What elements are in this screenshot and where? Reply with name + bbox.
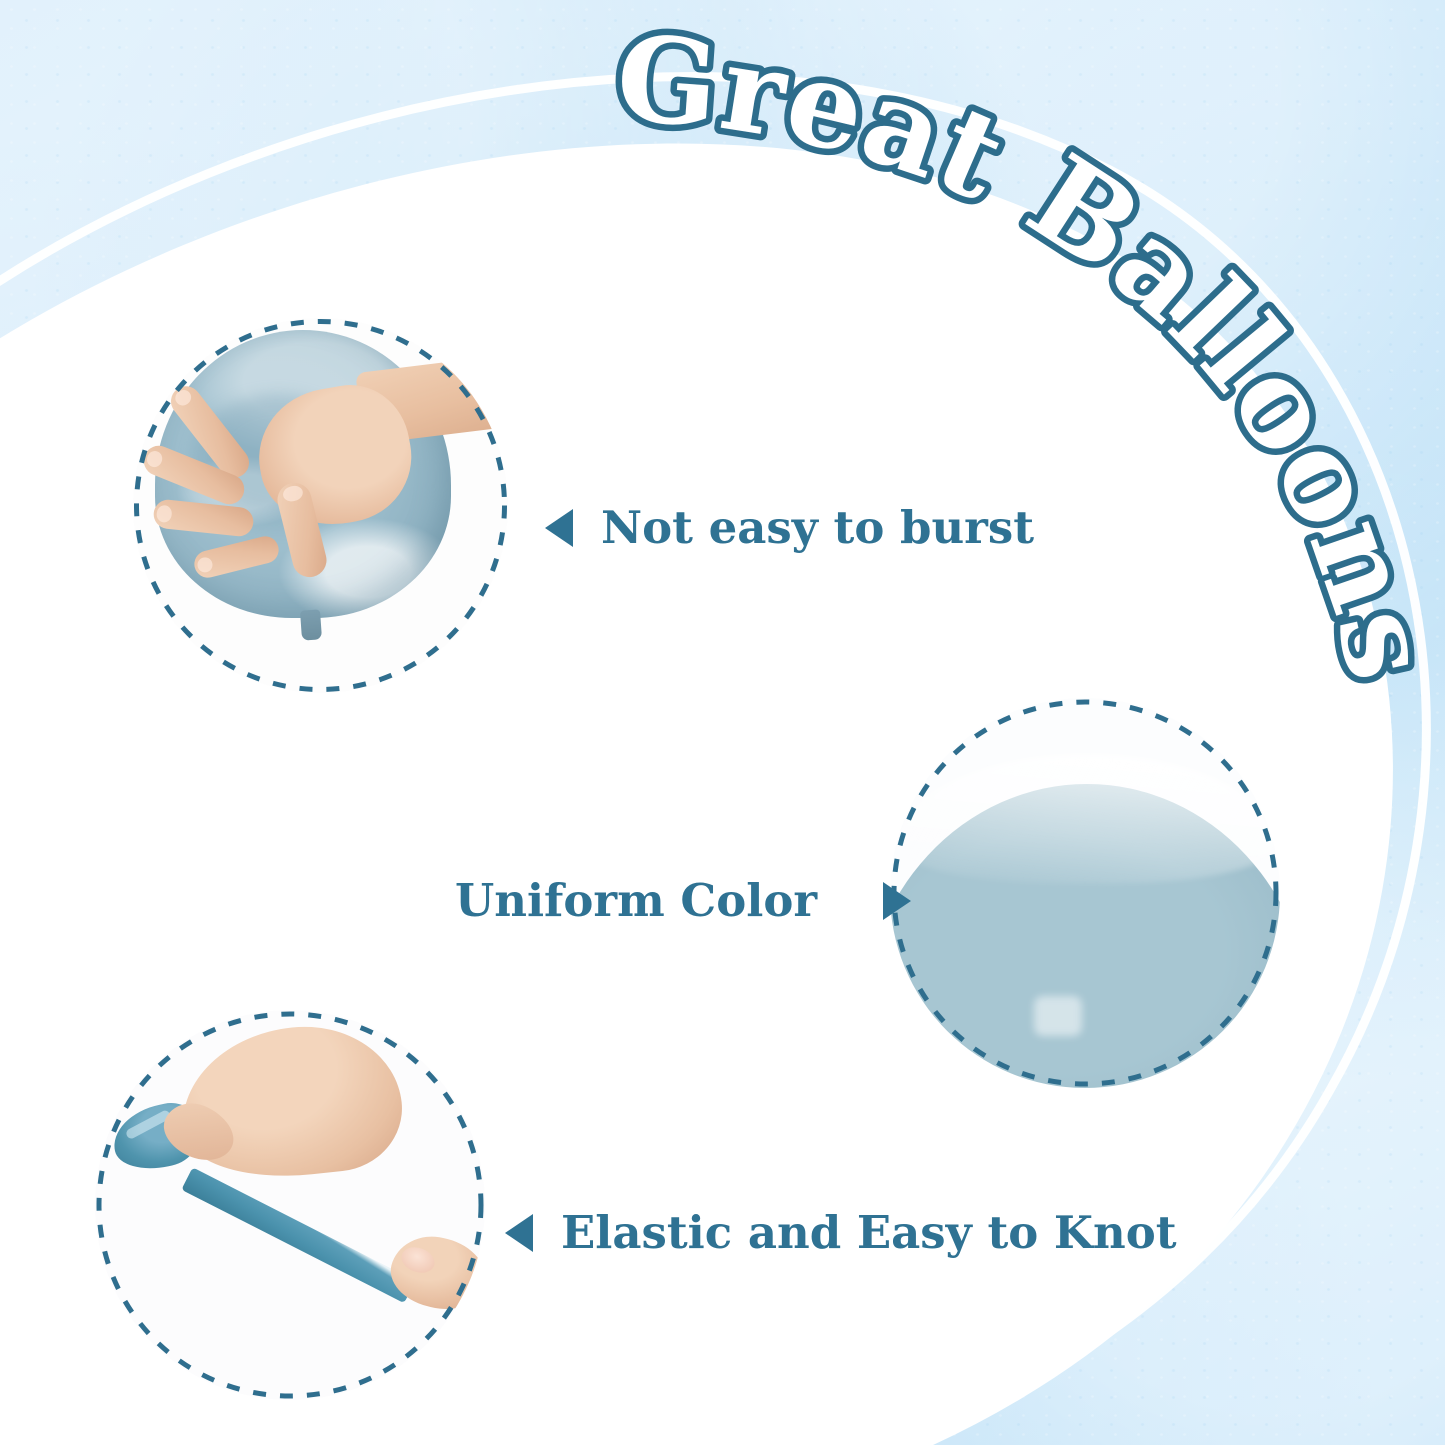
photo-background — [890, 698, 1280, 1088]
hand-upper — [174, 1017, 408, 1187]
balloon-neck — [300, 609, 322, 640]
feature-caption: Elastic and Easy to Knot — [561, 1210, 1177, 1255]
stretched-balloon-strip — [181, 1167, 415, 1303]
balloon-surface-closeup-photo — [890, 698, 1280, 1088]
feature-label-not-easy-to-burst: Not easy to burst — [545, 505, 1034, 550]
feature-label-elastic-and-easy-to-knot: Elastic and Easy to Knot — [505, 1210, 1177, 1255]
balloon-top-sheen — [896, 754, 1276, 884]
feature-caption: Not easy to burst — [601, 505, 1034, 550]
balloon-gloss-highlight — [1034, 996, 1082, 1036]
triangle-right-icon — [883, 882, 911, 920]
photo-background — [95, 1010, 485, 1400]
hand-lower — [384, 1227, 485, 1318]
balloon-press-test-photo — [133, 318, 508, 693]
photo-background — [133, 318, 508, 693]
poster-canvas: Great Balloons Great Balloons — [0, 0, 1445, 1445]
balloon-stretch-test-photo — [95, 1010, 485, 1400]
triangle-left-icon — [545, 509, 573, 547]
feature-caption: Uniform Color — [455, 878, 817, 923]
triangle-left-icon — [505, 1214, 533, 1252]
feature-label-uniform-color: Uniform Color — [455, 878, 911, 923]
